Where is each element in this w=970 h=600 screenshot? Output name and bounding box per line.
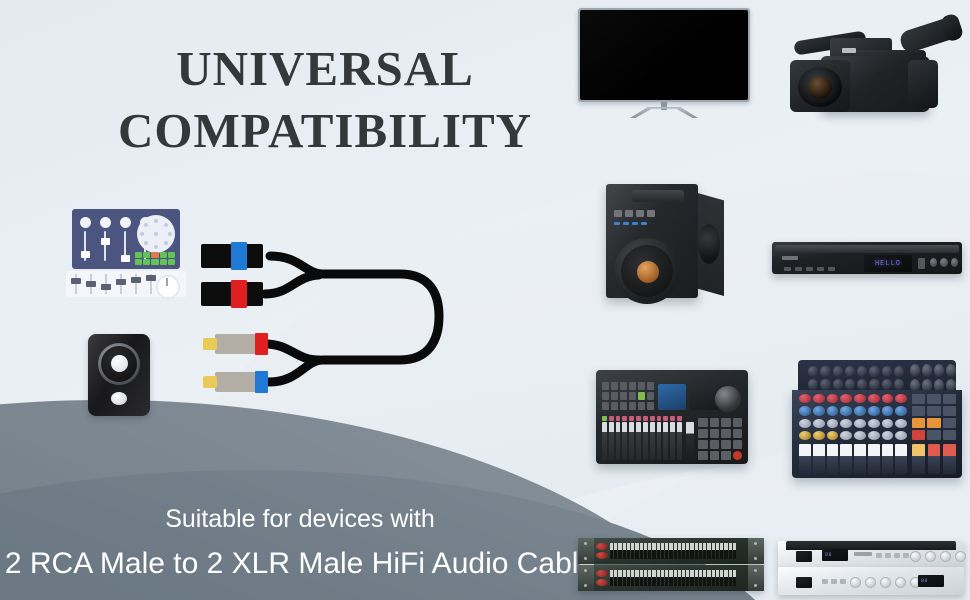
equalizer-channel-a (578, 538, 764, 564)
monitor-tweeter (111, 392, 127, 405)
console-input-jacks (808, 366, 904, 390)
receiver-knob-row (930, 258, 958, 270)
console-rear-panel (798, 360, 956, 394)
device-camcorder (772, 8, 962, 128)
amplifier-unit-bottom: 88 (778, 567, 964, 595)
interface-knob (80, 217, 91, 228)
equalizer-rack-ear (578, 538, 594, 564)
speaker-led-indicators (614, 222, 648, 234)
receiver-disc-tray (918, 258, 925, 269)
cable-branch-rca-red (265, 344, 319, 360)
speaker-passive-radiator-panel (694, 192, 724, 296)
receiver-top-panel (775, 245, 959, 253)
tv-neck (661, 102, 667, 110)
amplifier-display: 88 (918, 575, 944, 587)
recorder-channel-faders (602, 422, 682, 460)
product-cable-assembly (195, 232, 455, 427)
interface-jog-dial (137, 215, 175, 253)
recorder-master-fader (686, 422, 694, 460)
caption-line-1: Suitable for devices with (0, 505, 600, 534)
amplifier-display-text: 88 (921, 578, 928, 584)
device-mixing-console (792, 360, 962, 478)
tv-bezel (578, 8, 750, 102)
recorder-transport-buttons (698, 418, 742, 460)
device-studio-monitor (88, 334, 150, 416)
interface-fader-cap (81, 251, 90, 258)
speaker-cabinet (606, 184, 698, 298)
camcorder-lens (798, 67, 842, 107)
amplifier-brand-logo (854, 552, 872, 556)
amplifier-display-text: 88 (825, 552, 832, 558)
amplifier-vu-meter (796, 551, 812, 562)
receiver-button-row (784, 267, 850, 273)
recorder-channel-labels (602, 416, 682, 421)
speaker-woofer-cone (621, 245, 673, 297)
connector-xlr-red (201, 280, 263, 308)
cable-main-run (269, 256, 439, 382)
monitor-woofer-ring (98, 343, 140, 385)
interface-led-meter (135, 252, 175, 265)
audio-interface-base (66, 271, 186, 297)
camcorder-grip (908, 60, 938, 108)
console-output-jacks (910, 364, 956, 392)
connector-rca-red (203, 333, 268, 355)
monitor-woofer-cone (101, 346, 137, 382)
console-channel-knobs (799, 394, 907, 440)
console-master-faders (912, 444, 956, 474)
speaker-carry-handle (632, 190, 684, 202)
amplifier-display: 88 (822, 549, 848, 561)
speaker-dust-cap (637, 261, 659, 283)
headline: UNIVERSAL COMPATIBILITY (90, 38, 560, 162)
amplifier-button-row (822, 579, 846, 585)
headline-line-2: COMPATIBILITY (90, 100, 560, 162)
device-graphic-equalizer (578, 538, 764, 594)
headline-line-1: UNIVERSAL (176, 41, 474, 96)
console-master-section (912, 394, 956, 440)
device-audio-interface (66, 209, 186, 297)
device-digital-recorder (596, 370, 748, 470)
interface-volume-knob (156, 275, 180, 299)
device-pa-amplifier: 88 88 (778, 535, 964, 595)
connector-xlr-blue (201, 242, 263, 270)
interface-fader-cap (121, 255, 130, 262)
audio-interface-panel (72, 209, 180, 269)
equalizer-rack-ear (748, 538, 764, 564)
recorder-chassis (596, 370, 748, 464)
amplifier-vu-meter (796, 577, 812, 588)
device-av-receiver: HELLO (772, 234, 962, 280)
tv-stand (630, 107, 698, 118)
equalizer-rack-ear (748, 565, 764, 591)
camcorder-lens-hood (790, 60, 850, 112)
recorder-jog-wheel (715, 386, 741, 412)
recorder-lcd-screen (658, 384, 686, 410)
equalizer-band-sliders (610, 570, 736, 586)
speaker-control-row (614, 208, 684, 218)
device-powered-speaker (606, 170, 724, 298)
receiver-chassis: HELLO (772, 242, 962, 274)
tv-screen (580, 10, 748, 100)
amplifier-knob-row (910, 551, 966, 562)
interface-knob (120, 217, 131, 228)
console-face-panel (792, 390, 962, 478)
amplifier-top-cover (786, 541, 956, 550)
device-flat-screen-tv (578, 8, 750, 118)
equalizer-channel-b (578, 565, 764, 591)
speaker-woofer (614, 238, 680, 304)
console-channel-faders (799, 444, 907, 474)
cable-branch-xlr-red (265, 275, 319, 294)
amplifier-unit-top: 88 (778, 541, 964, 569)
equalizer-rack-ear (578, 565, 594, 591)
caption-line-2: 2 RCA Male to 2 XLR Male HiFi Audio Cabl… (0, 547, 600, 581)
recorder-top-buttons (602, 382, 654, 410)
interface-fader-cap (101, 238, 110, 245)
monitor-dust-cap (111, 355, 128, 372)
receiver-brand-logo (782, 256, 798, 260)
interface-fader-track (104, 231, 106, 261)
equalizer-gain-knobs (596, 570, 608, 586)
product-banner: UNIVERSAL COMPATIBILITY Suitable for dev… (0, 0, 970, 600)
interface-knob (100, 217, 111, 228)
receiver-display-text: HELLO (875, 260, 901, 268)
equalizer-band-sliders (610, 543, 736, 559)
amplifier-knob-row (850, 577, 921, 588)
camcorder-viewfinder (898, 16, 960, 55)
receiver-display: HELLO (864, 255, 912, 272)
connector-rca-blue (203, 371, 268, 393)
equalizer-gain-knobs (596, 543, 608, 559)
camcorder-brand-badge (842, 48, 856, 53)
